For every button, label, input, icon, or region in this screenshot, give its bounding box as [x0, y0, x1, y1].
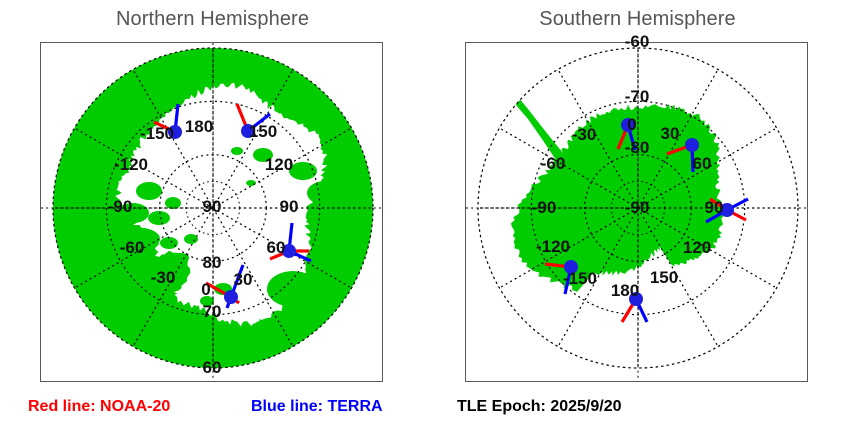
polar-plot-south [465, 42, 808, 382]
southern-hemisphere-panel: Southern Hemisphere 0306090120150180-150… [425, 0, 850, 425]
legend-tle-epoch: TLE Epoch: 2025/9/20 [457, 398, 622, 416]
polar-projection-north [41, 43, 381, 380]
legend-terra: Blue line: TERRA [251, 398, 383, 416]
polar-plot-north [40, 42, 383, 382]
polar-projection-south [466, 43, 806, 380]
panel-title-south: Southern Hemisphere [425, 8, 850, 31]
panel-title-north: Northern Hemisphere [0, 8, 425, 31]
northern-hemisphere-panel: Northern Hemisphere 1801501209060300-30-… [0, 0, 425, 425]
legend-noaa20: Red line: NOAA-20 [28, 398, 170, 416]
